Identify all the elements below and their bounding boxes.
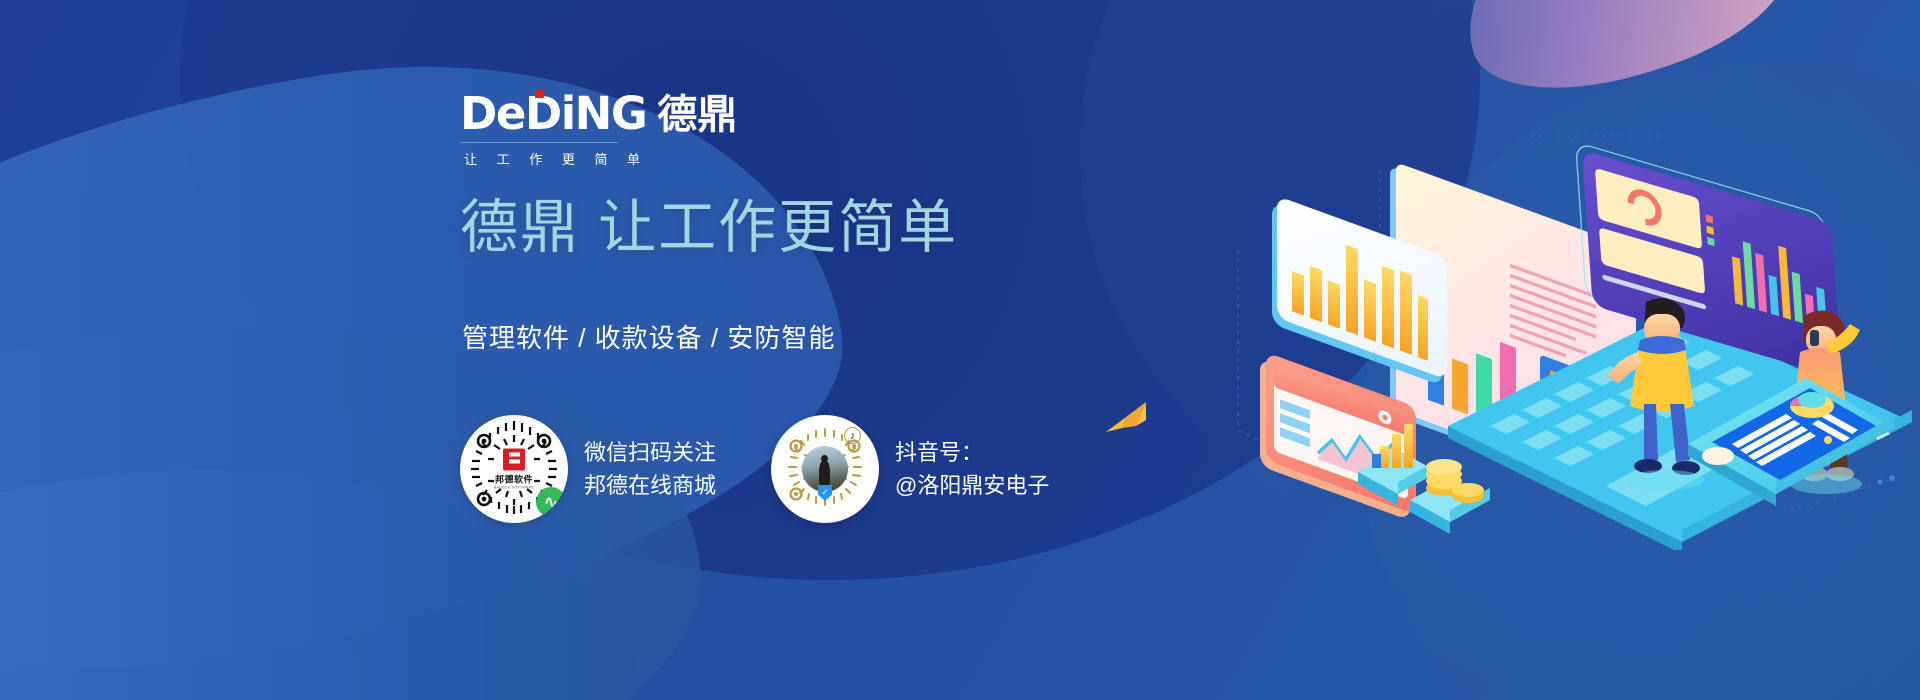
page-title: 德鼎 让工作更简单: [460, 196, 958, 261]
douyin-avatar-figure: [819, 460, 830, 486]
logo-row: DeDiNG 德鼎: [460, 92, 737, 135]
qr-item-douyin[interactable]: ♪ ✓ 抖音号： @洛阳鼎安电子: [771, 415, 1049, 523]
douyin-qr-label-line1: 抖音号：: [895, 436, 1049, 469]
paper-plane-icon: [1102, 398, 1150, 440]
qr-code-group: 邦德软件 BANGDE SOFTWARE ∿ 微信扫码关注 邦德在线商城: [460, 415, 1049, 523]
wechat-qr-label: 微信扫码关注 邦德在线商城: [584, 436, 716, 502]
qr-item-wechat[interactable]: 邦德软件 BANGDE SOFTWARE ∿ 微信扫码关注 邦德在线商城: [460, 415, 716, 523]
logo-chinese-wordmark: 德鼎: [657, 95, 737, 135]
hero-content: DeDiNG 德鼎 让 工 作 更 简 单 德鼎 让工作更简单 管理软件 / 收…: [460, 0, 1180, 700]
isometric-illustration: [1230, 130, 1920, 550]
bangde-mark-icon: [503, 449, 525, 471]
wechat-qr-label-line1: 微信扫码关注: [584, 436, 716, 469]
wechat-qr-code[interactable]: 邦德软件 BANGDE SOFTWARE ∿: [460, 415, 568, 523]
logo-latin-wordmark: DeDiNG: [460, 92, 646, 135]
logo-red-dot-icon: [535, 89, 544, 98]
wechat-qr-brand-sub: BANGDE SOFTWARE: [483, 486, 545, 490]
brand-logo[interactable]: DeDiNG 德鼎 让 工 作 更 简 单: [460, 92, 737, 168]
logo-divider: [460, 142, 618, 143]
douyin-note-icon: ♪: [844, 427, 861, 444]
wechat-qr-brand-name: 邦德软件: [483, 473, 545, 486]
logo-latin-text: DeDiNG: [460, 87, 646, 140]
douyin-qr-label: 抖音号： @洛阳鼎安电子: [895, 436, 1049, 502]
douyin-qr-label-line2: @洛阳鼎安电子: [895, 469, 1049, 502]
wechat-mini-program-icon: ∿: [536, 487, 566, 517]
page-subtitle: 管理软件 / 收款设备 / 安防智能: [462, 318, 835, 355]
wechat-qr-center-logo: 邦德软件 BANGDE SOFTWARE: [483, 449, 545, 490]
logo-tagline: 让 工 作 更 简 单: [460, 149, 737, 168]
promo-banner: DeDiNG 德鼎 让 工 作 更 简 单 德鼎 让工作更简单 管理软件 / 收…: [0, 0, 1920, 700]
wechat-qr-label-line2: 邦德在线商城: [584, 469, 716, 502]
douyin-qr-code[interactable]: ♪ ✓: [771, 415, 879, 523]
